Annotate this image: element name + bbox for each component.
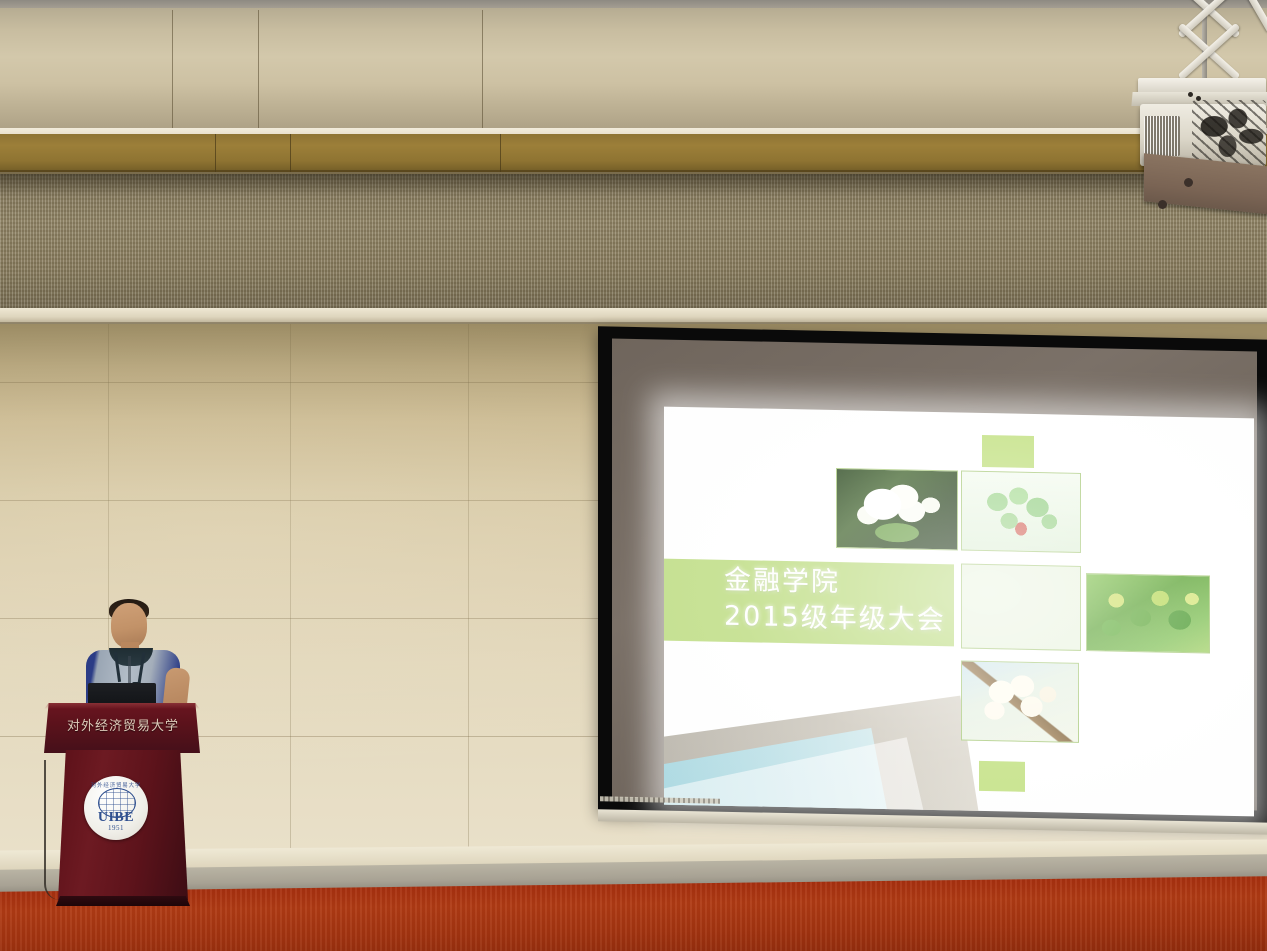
podium-university-name: 对外经济贸易大学 (58, 715, 188, 734)
soffit-seam (172, 10, 173, 130)
blossoms-branch-icon (962, 662, 1078, 742)
projector-cable-bundle (1192, 100, 1266, 166)
uibe-logo: 对外经济贸易大学 UIBE 1951 (84, 776, 148, 840)
slide-photo-pale-leaves (961, 471, 1081, 553)
projector-foot (1184, 178, 1193, 187)
wood-trim-seam (290, 134, 291, 172)
slide-photo-white-flowers (836, 468, 958, 550)
ceiling-soffit (0, 8, 1267, 130)
wall-seam-vertical (290, 324, 291, 854)
slide-accent-square-bottom (979, 761, 1025, 792)
wood-trim-seam (500, 134, 501, 172)
white-flowers-icon (837, 469, 957, 549)
wall-seam-vertical (468, 324, 469, 854)
cactus-bowl-icon (962, 565, 1080, 650)
pale-leaves-icon (962, 472, 1080, 552)
wood-trim-band (0, 134, 1267, 172)
lecture-hall-scene: 金融学院 2015级年级大会 对外经济贸易大学 对外经济贸易大学 (0, 0, 1267, 951)
screen-surface: 金融学院 2015级年级大会 (612, 339, 1257, 811)
projector-indicator-icon (1196, 96, 1201, 101)
slide-photo-cactus-bowl (961, 564, 1081, 651)
projected-slide: 金融学院 2015级年级大会 (664, 407, 1254, 817)
podium-base-edge (56, 896, 190, 906)
podium-and-speaker: 对外经济贸易大学 对外经济贸易大学 UIBE 1951 (36, 590, 246, 920)
wood-trim-seam (215, 134, 216, 172)
screen-roller-detail (600, 796, 720, 803)
slide-photo-blossoms-branch (961, 661, 1079, 743)
slide-photo-green-leaves (1086, 573, 1210, 653)
soffit-seam (482, 10, 483, 130)
ceiling-projector-assembly (1130, 0, 1267, 225)
projector-foot (1158, 200, 1167, 209)
mesh-panel-shadow (0, 174, 1267, 196)
projector-vent-grille (1144, 116, 1180, 156)
green-leaves-icon (1087, 574, 1209, 652)
projection-screen: 金融学院 2015级年级大会 (598, 326, 1267, 824)
slide-canvas: 金融学院 2015级年级大会 (664, 407, 1254, 817)
projector-indicator-icon (1188, 92, 1193, 97)
podium-top-highlight (44, 703, 200, 709)
slide-title: 金融学院 2015级年级大会 (724, 563, 964, 639)
slide-accent-square-top (982, 435, 1034, 468)
uibe-logo-year: 1951 (84, 824, 148, 832)
soffit-seam (258, 10, 259, 130)
scissor-arm (1238, 0, 1267, 33)
podium-cable (44, 760, 60, 900)
